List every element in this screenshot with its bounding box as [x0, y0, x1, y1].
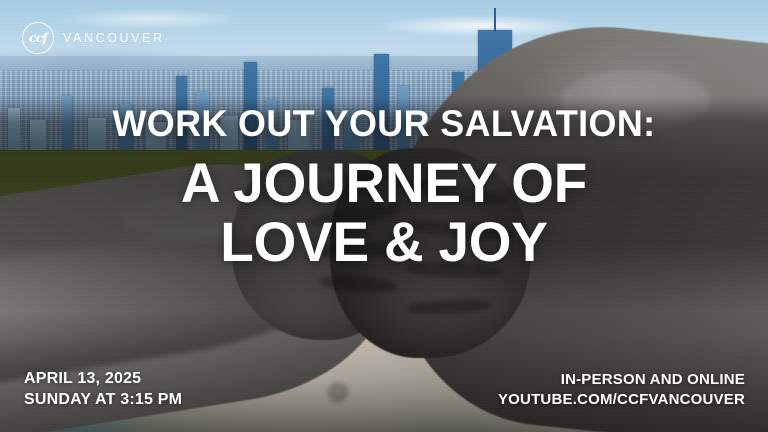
event-schedule-block: APRIL 13, 2025 SUNDAY AT 3:15 PM — [24, 368, 182, 410]
event-time: SUNDAY AT 3:15 PM — [24, 389, 182, 410]
livestream-link[interactable]: YOUTUBE.COM/CCFVANCOUVER — [498, 390, 745, 410]
logo-wordmark: VANCOUVER — [63, 31, 165, 45]
brand-logo[interactable]: ccf VANCOUVER — [22, 22, 165, 54]
headline-block: WORK OUT YOUR SALVATION: A JOURNEY OF LO… — [0, 104, 768, 271]
event-promo-graphic: ccf VANCOUVER WORK OUT YOUR SALVATION: A… — [0, 0, 768, 432]
headline-line-3: LOVE & JOY — [8, 212, 761, 271]
event-date: APRIL 13, 2025 — [24, 368, 182, 389]
headline-line-1: WORK OUT YOUR SALVATION: — [12, 104, 757, 144]
attendance-mode: IN-PERSON AND ONLINE — [498, 370, 745, 390]
logo-mark-text: ccf — [29, 32, 47, 44]
headline-line-2: A JOURNEY OF — [8, 153, 761, 212]
ccf-circle-logo-icon: ccf — [22, 22, 54, 54]
event-access-block: IN-PERSON AND ONLINE YOUTUBE.COM/CCFVANC… — [498, 370, 745, 410]
